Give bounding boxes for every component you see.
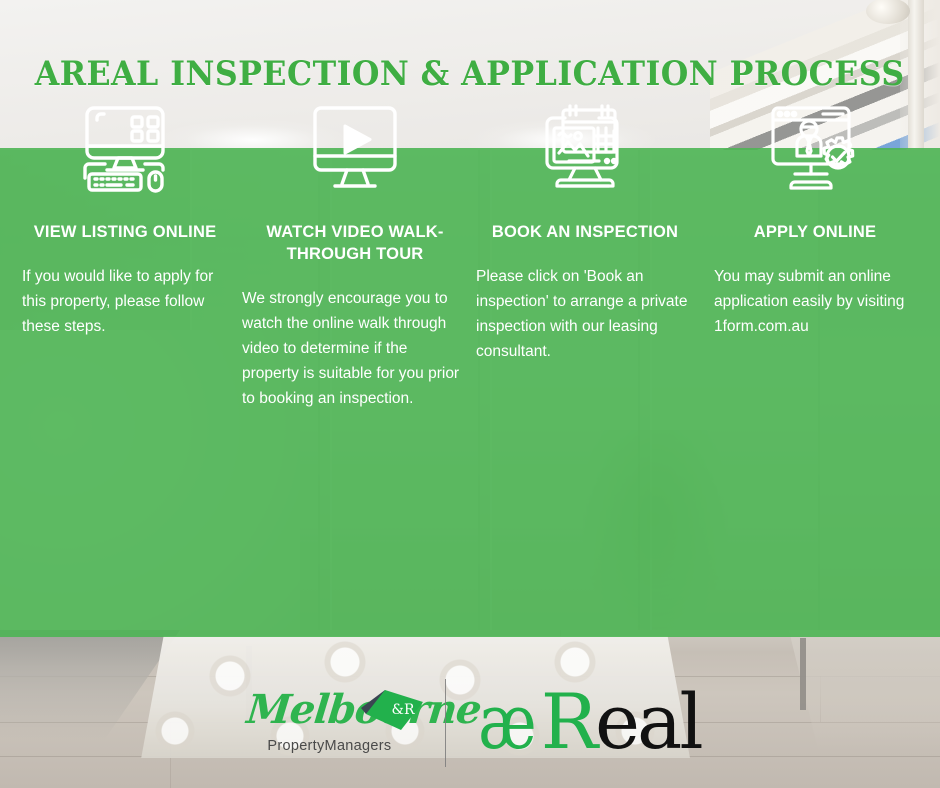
areal-logo-a: æ <box>479 686 535 758</box>
step-body: You may submit an online application eas… <box>700 264 930 339</box>
infographic-canvas: AREAL INSPECTION & APPLICATION PROCESS <box>0 0 940 788</box>
step-body: We strongly encourage you to watch the o… <box>240 286 470 412</box>
areal-logo-r: R <box>541 686 595 758</box>
areal-logo: æReal <box>472 686 700 758</box>
monitor-calendar-listing-icon <box>533 96 637 200</box>
step-body: If you would like to apply for this prop… <box>10 264 240 339</box>
logo-divider <box>445 679 446 767</box>
areal-logo-eal: eal <box>595 686 701 758</box>
melbourne-property-managers-logo: Melbourne PropertyManagers &R <box>239 680 439 766</box>
step-title: VIEW LISTING ONLINE <box>10 222 240 244</box>
step-title: WATCH VIDEO WALK-THROUGH TOUR <box>240 222 470 266</box>
step-body: Please click on 'Book an inspection' to … <box>470 264 700 364</box>
footer-logos: Melbourne PropertyManagers &R æReal <box>0 637 940 788</box>
desktop-monitor-keyboard-mouse-icon <box>73 96 177 200</box>
step-title: BOOK AN INSPECTION <box>470 222 700 244</box>
monitor-person-gear-check-icon <box>763 96 867 200</box>
monitor-play-video-icon <box>303 96 407 200</box>
mpm-subtitle-text: PropertyManagers <box>267 738 391 754</box>
mpm-roof-mark-icon: &R <box>357 686 427 734</box>
mpm-roof-monogram: &R <box>392 702 415 718</box>
step-title: APPLY ONLINE <box>700 222 930 244</box>
